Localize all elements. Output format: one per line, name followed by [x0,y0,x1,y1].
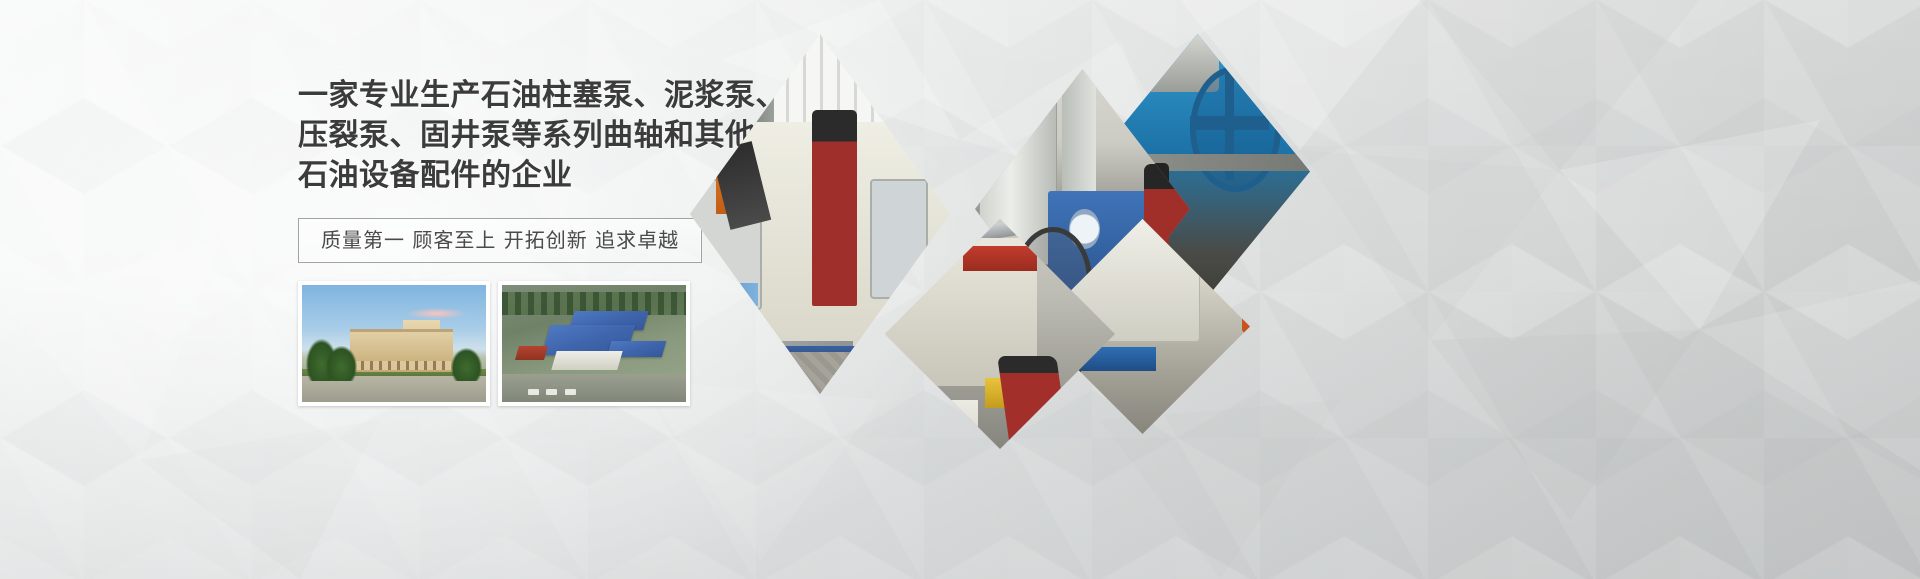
hero-banner: 一家专业生产石油柱塞泵、泥浆泵、 压裂泵、固井泵等系列曲轴和其他 石油设备配件的… [0,0,1920,579]
headline-line-2: 压裂泵、固井泵等系列曲轴和其他 [298,116,718,156]
factory-aerial-photo[interactable] [498,281,690,406]
headline-line-3: 石油设备配件的企业 [298,156,718,196]
diamond-photo-collage [690,34,1310,414]
slogan-box: 质量第一 顾客至上 开拓创新 追求卓越 [298,218,702,263]
photo-thumbnail-row [298,281,718,406]
slogan-text: 质量第一 顾客至上 开拓创新 追求卓越 [321,228,679,252]
hero-headline: 一家专业生产石油柱塞泵、泥浆泵、 压裂泵、固井泵等系列曲轴和其他 石油设备配件的… [298,76,718,196]
headline-line-1: 一家专业生产石油柱塞泵、泥浆泵、 [298,76,718,116]
office-building-photo[interactable] [298,281,490,406]
hero-text-column: 一家专业生产石油柱塞泵、泥浆泵、 压裂泵、固井泵等系列曲轴和其他 石油设备配件的… [298,76,718,406]
